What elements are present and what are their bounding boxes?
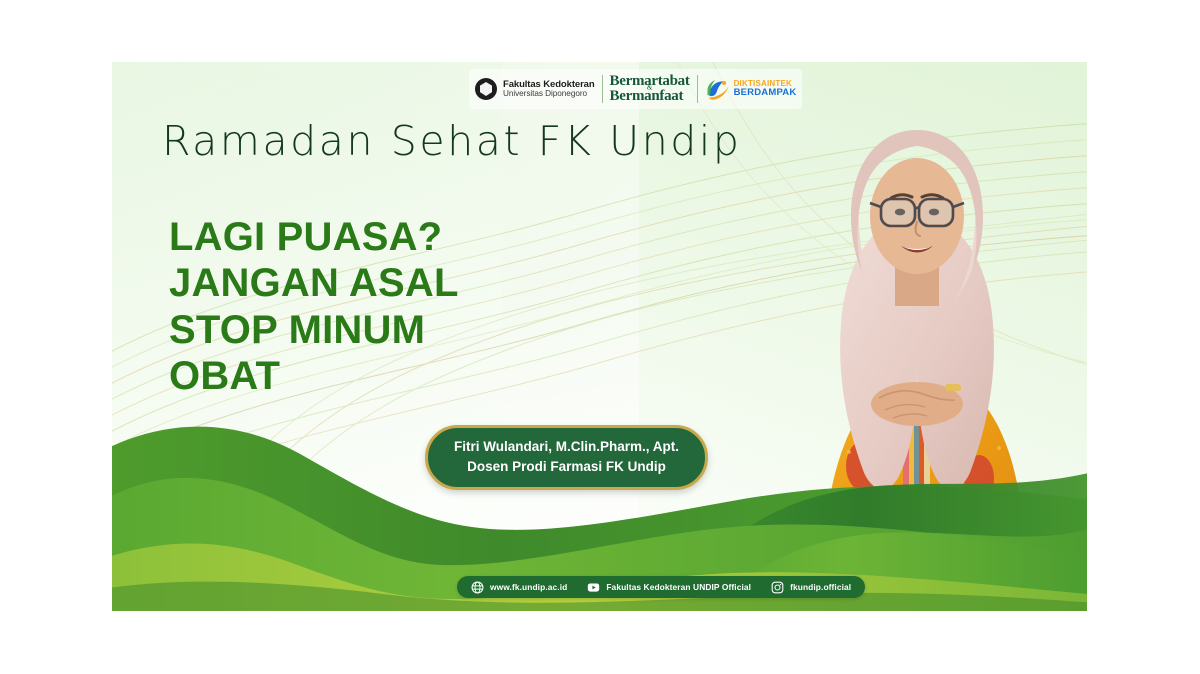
headline-line-3: STOP MINUM: [169, 307, 459, 353]
instagram-icon: [771, 581, 784, 594]
speaker-name: Fitri Wulandari, M.Clin.Pharm., Apt.: [454, 437, 679, 457]
footer-instagram-label: fkundip.official: [790, 582, 851, 592]
undip-motto: Bermartabat Bermanfaat &: [603, 74, 697, 104]
motto-ampersand: &: [647, 85, 652, 92]
headline-line-2: JANGAN ASAL: [169, 260, 459, 306]
dikti-line2: BERDAMPAK: [734, 88, 797, 98]
diktisaintek-mark-icon: [705, 77, 730, 102]
footer-website-label: www.fk.undip.ac.id: [490, 582, 567, 592]
footer-youtube-label: Fakultas Kedokteran UNDIP Official: [606, 582, 751, 592]
footer-item-instagram[interactable]: fkundip.official: [771, 581, 851, 594]
headline-line-4: OBAT: [169, 353, 459, 399]
undip-logo: Fakultas Kedokteran Universitas Diponego…: [475, 78, 602, 100]
logo-lockup: Fakultas Kedokteran Universitas Diponego…: [469, 69, 802, 109]
globe-icon: [471, 581, 484, 594]
footer-item-website[interactable]: www.fk.undip.ac.id: [471, 581, 567, 594]
slide-kicker-title: Ramadan Sehat FK Undip: [162, 117, 742, 165]
faculty-name-line2: Universitas Diponegoro: [503, 90, 595, 99]
presentation-slide: Fakultas Kedokteran Universitas Diponego…: [112, 62, 1087, 611]
slide-headline: LAGI PUASA? JANGAN ASAL STOP MINUM OBAT: [169, 214, 459, 400]
diktisaintek-logo: DIKTISAINTEK BERDAMPAK: [698, 77, 797, 102]
undip-crest-icon: [475, 78, 497, 100]
speaker-role: Dosen Prodi Farmasi FK Undip: [454, 457, 679, 477]
footer-contact-bar: www.fk.undip.ac.id Fakultas Kedokteran U…: [457, 576, 865, 598]
footer-item-youtube[interactable]: Fakultas Kedokteran UNDIP Official: [587, 581, 751, 594]
headline-line-1: LAGI PUASA?: [169, 214, 459, 260]
speaker-name-badge: Fitri Wulandari, M.Clin.Pharm., Apt. Dos…: [425, 425, 708, 490]
youtube-icon: [587, 581, 600, 594]
page-root: Fakultas Kedokteran Universitas Diponego…: [0, 0, 1200, 674]
